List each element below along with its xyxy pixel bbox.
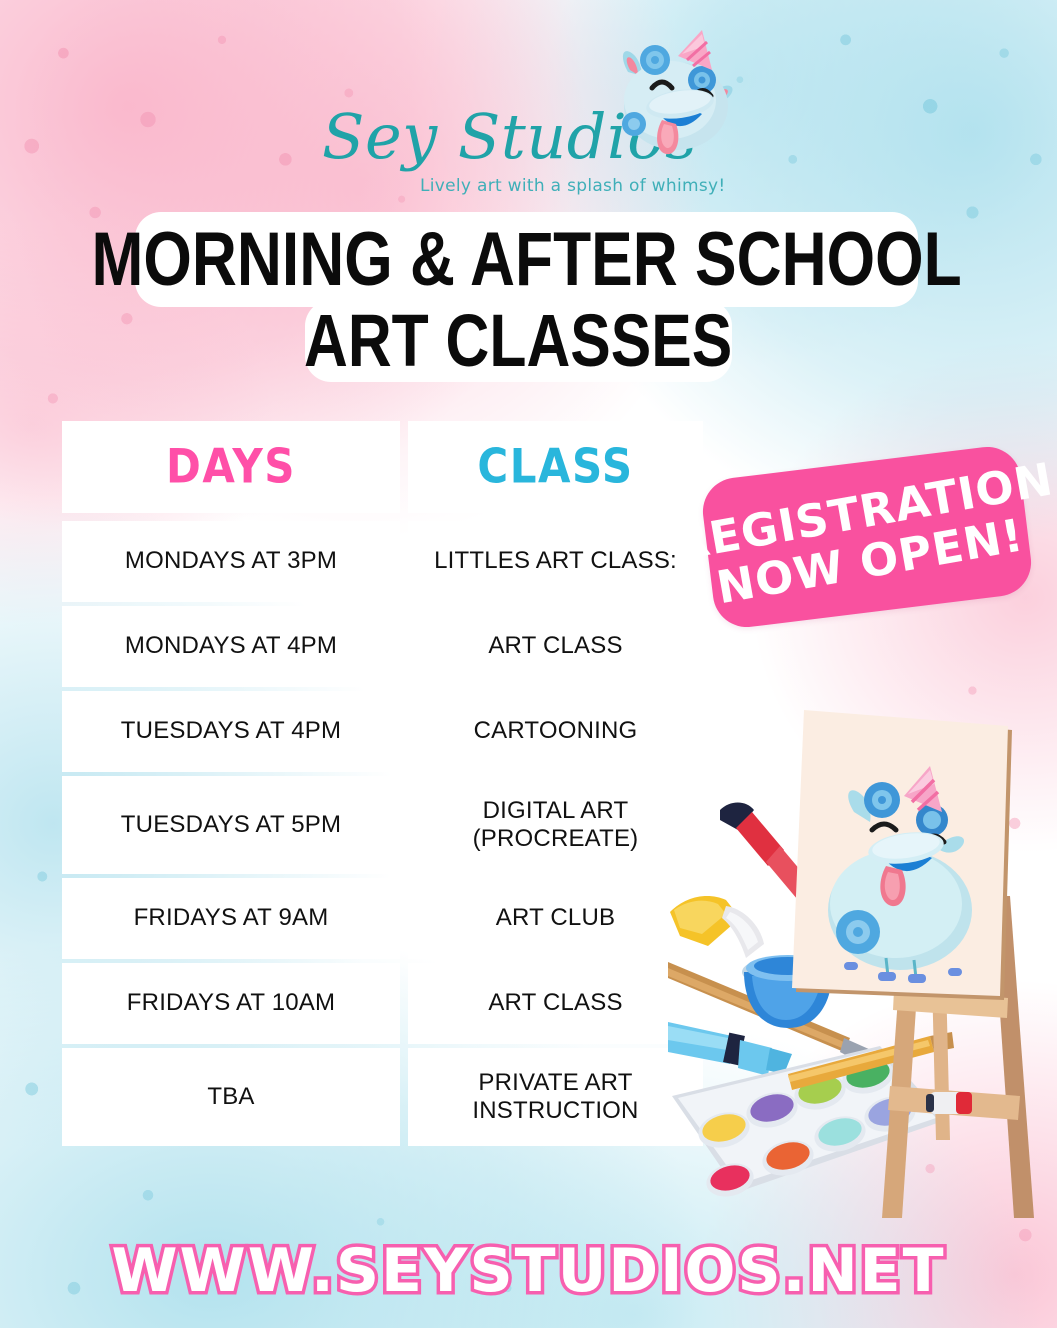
cell-text-class: ART CLASS [488, 989, 622, 1017]
cell-days: TUESDAYS AT 5PM [62, 776, 400, 874]
table-row: MONDAYS AT 3PM LITTLES ART CLASS: [62, 521, 703, 602]
cell-text-days: MONDAYS AT 4PM [125, 632, 337, 660]
cell-class: ART CLUB [408, 878, 703, 959]
table-header-row: DAYS CLASS [62, 421, 703, 513]
class-schedule-table: DAYS CLASS MONDAYS AT 3PM LITTLES ART CL… [62, 421, 703, 1150]
unicorn-mascot-icon [590, 28, 750, 178]
cell-text-class: CARTOONING [474, 717, 638, 745]
cell-text-days: TUESDAYS AT 4PM [121, 717, 341, 745]
table-row: MONDAYS AT 4PM ART CLASS [62, 606, 703, 687]
cell-days: TUESDAYS AT 4PM [62, 691, 400, 772]
cell-text-days: MONDAYS AT 3PM [125, 547, 337, 575]
cell-days: MONDAYS AT 4PM [62, 606, 400, 687]
cell-text-days: TUESDAYS AT 5PM [121, 811, 341, 839]
cell-text-days: FRIDAYS AT 10AM [127, 989, 335, 1017]
title-text-1: MORNING & AFTER SCHOOL [91, 222, 961, 298]
cell-class: DIGITAL ART (PROCREATE) [408, 776, 703, 874]
cell-days: MONDAYS AT 3PM [62, 521, 400, 602]
cell-days: FRIDAYS AT 10AM [62, 963, 400, 1044]
header-cell-class: CLASS [408, 421, 703, 513]
cell-text-class: PRIVATE ART INSTRUCTION [418, 1069, 693, 1126]
cell-text-class: DIGITAL ART (PROCREATE) [418, 797, 693, 854]
page-title-line-1: MORNING & AFTER SCHOOL [135, 212, 918, 307]
table-row: TBA PRIVATE ART INSTRUCTION [62, 1048, 703, 1146]
brand-tagline: Lively art with a splash of whimsy! [420, 176, 725, 196]
cell-days: FRIDAYS AT 9AM [62, 878, 400, 959]
cell-days: TBA [62, 1048, 400, 1146]
easel-with-unicorn-painting [668, 700, 1057, 1230]
header-cell-days: DAYS [62, 421, 400, 513]
paint-tube-icon [670, 896, 764, 958]
small-paint-tube-icon [926, 1092, 972, 1114]
registration-badge[interactable]: REGISTRATION NOW OPEN! [699, 443, 1035, 631]
cell-text-days: TBA [207, 1083, 254, 1111]
brand-logo: Sey Studios Lively art with a splash of … [322, 28, 742, 203]
cell-class: LITTLES ART CLASS: [408, 521, 703, 602]
crayon-icon [668, 1022, 792, 1076]
cell-text-days: FRIDAYS AT 9AM [134, 904, 329, 932]
cell-text-class: ART CLUB [496, 904, 615, 932]
cell-class: PRIVATE ART INSTRUCTION [408, 1048, 703, 1146]
cell-class: ART CLASS [408, 606, 703, 687]
header-label-days: DAYS [166, 443, 296, 490]
table-row: FRIDAYS AT 10AM ART CLASS [62, 963, 703, 1044]
title-text-2: ART CLASSES [304, 304, 732, 378]
poster-canvas: Sey Studios Lively art with a splash of … [0, 0, 1057, 1328]
cell-text-class: LITTLES ART CLASS: [434, 547, 677, 575]
table-row: FRIDAYS AT 9AM ART CLUB [62, 878, 703, 959]
header-label-class: CLASS [477, 443, 633, 490]
website-url[interactable]: WWW.SEYSTUDIOS.NET [0, 1236, 1057, 1306]
cell-text-class: ART CLASS [488, 632, 622, 660]
cell-class: CARTOONING [408, 691, 703, 772]
cell-class: ART CLASS [408, 963, 703, 1044]
canvas-with-painting [792, 710, 1012, 1000]
table-row: TUESDAYS AT 5PM DIGITAL ART (PROCREATE) [62, 776, 703, 874]
table-row: TUESDAYS AT 4PM CARTOONING [62, 691, 703, 772]
brand-wordmark: Sey Studios [322, 100, 622, 173]
page-title-line-2: ART CLASSES [305, 300, 732, 382]
